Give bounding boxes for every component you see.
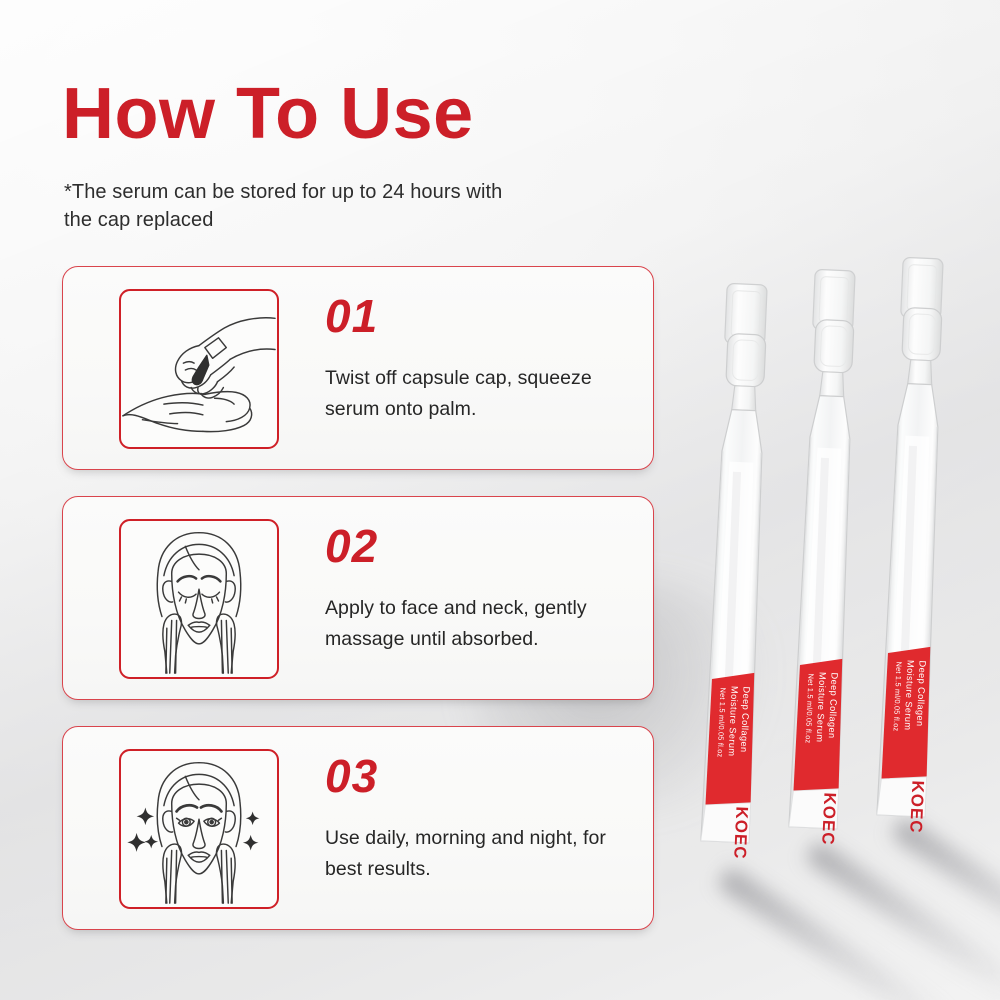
step-description: Twist off capsule cap, squeeze serum ont… xyxy=(325,363,645,425)
svg-text:KOEC: KOEC xyxy=(906,780,927,834)
step-number: 02 xyxy=(325,523,378,569)
step-number: 03 xyxy=(325,753,378,799)
step-card-03: 03 Use daily, morning and night, for bes… xyxy=(62,726,654,930)
infographic-canvas: How To Use *The serum can be stored for … xyxy=(0,0,1000,1000)
product-photo-area: Deep Collagen Moisture Serum Net 1.5 ml/… xyxy=(660,0,1000,1000)
glowing-face-sparkles-icon xyxy=(119,749,279,909)
page-title: How To Use xyxy=(62,78,474,150)
step-description: Apply to face and neck, gently massage u… xyxy=(325,593,645,655)
face-massage-closed-eyes-icon xyxy=(119,519,279,679)
svg-text:KOEC: KOEC xyxy=(730,806,751,860)
hand-squeezing-capsule-onto-palm-icon xyxy=(119,289,279,449)
step-card-01: 01 Twist off capsule cap, squeeze serum … xyxy=(62,266,654,470)
storage-note: *The serum can be stored for up to 24 ho… xyxy=(64,178,534,234)
step-card-02: 02 Apply to face and neck, gently massag… xyxy=(62,496,654,700)
svg-text:KOEC: KOEC xyxy=(818,792,839,846)
step-number: 01 xyxy=(325,293,378,339)
step-description: Use daily, morning and night, for best r… xyxy=(325,823,645,885)
